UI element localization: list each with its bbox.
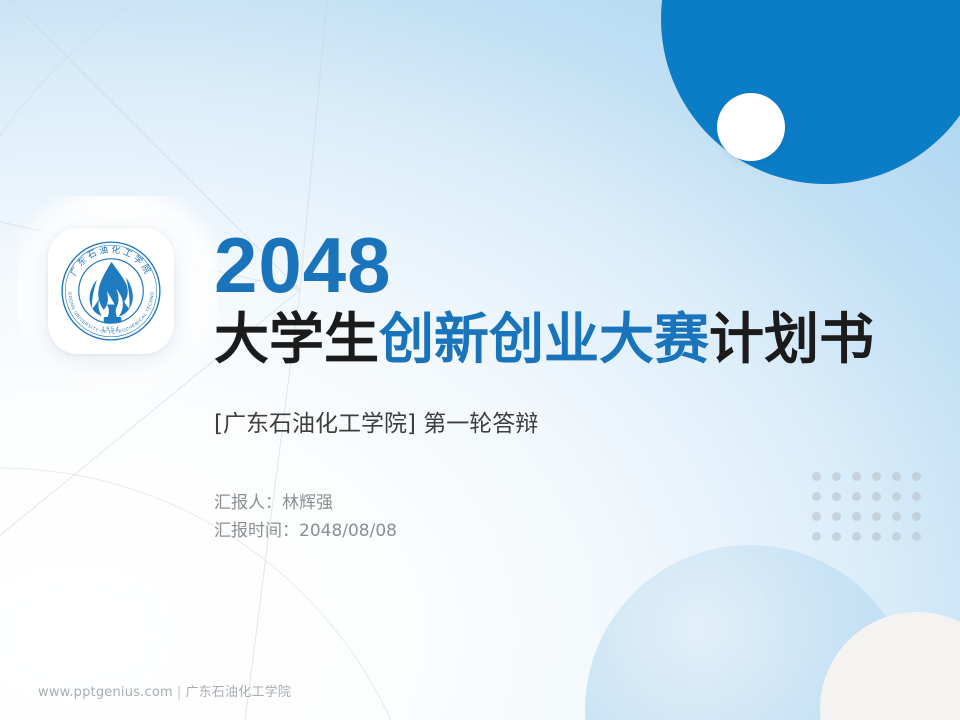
- university-logo-icon: 广东石油化工学院 GUANGDONG UNIVERSITY OF PETROCH…: [59, 239, 163, 343]
- footer-organization: 广东石油化工学院: [185, 685, 291, 700]
- title-lead: 大学生: [214, 307, 379, 371]
- footer: www.pptgenius.com|广东石油化工学院: [38, 681, 291, 700]
- presentation-meta: 汇报人：林辉强 汇报时间：2048/08/08: [214, 489, 397, 545]
- slide-content: 2048 大学生创新创业大赛计划书 [广东石油化工学院] 第一轮答辩 汇报人：林…: [214, 0, 914, 720]
- title-tail: 计划书: [709, 307, 874, 371]
- title-slide: 广东石油化工学院 GUANGDONG UNIVERSITY OF PETROCH…: [0, 0, 960, 720]
- footer-site: www.pptgenius.com: [38, 685, 173, 700]
- title-accent: 创新创业大赛: [379, 307, 709, 371]
- footer-separator: |: [177, 685, 182, 700]
- date-line: 汇报时间：2048/08/08: [214, 517, 397, 545]
- page-title: 大学生创新创业大赛计划书: [214, 310, 874, 369]
- presenter-line: 汇报人：林辉强: [214, 489, 397, 517]
- subtitle: [广东石油化工学院] 第一轮答辩: [214, 408, 538, 440]
- svg-text:1954: 1954: [102, 327, 121, 333]
- year-heading: 2048: [214, 226, 392, 304]
